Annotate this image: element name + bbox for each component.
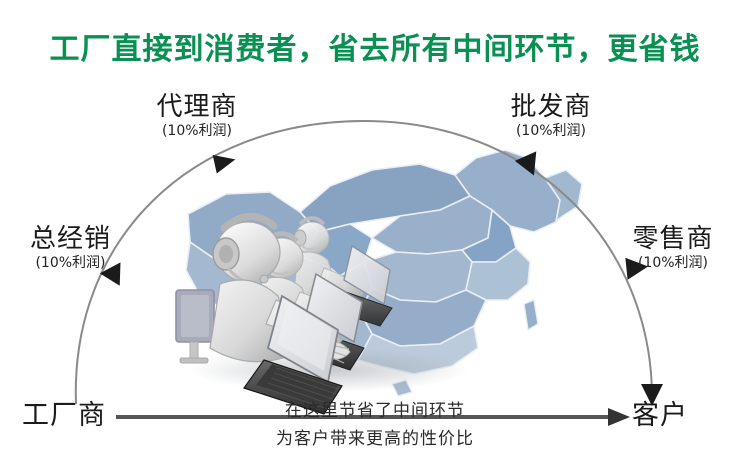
caption-value: 为客户带来更高的性价比 bbox=[155, 424, 595, 449]
node-wholesaler-label: 批发商 bbox=[486, 92, 616, 122]
node-agent-profit: (10%利润) bbox=[132, 122, 262, 141]
arrow-to-agent bbox=[211, 155, 236, 175]
monitor bbox=[176, 290, 214, 363]
node-retailer-label: 零售商 bbox=[608, 224, 738, 254]
node-agent: 代理商 (10%利润) bbox=[132, 92, 262, 141]
node-factory: 工厂商 bbox=[22, 400, 106, 432]
node-distributor: 总经销 (10%利润) bbox=[8, 224, 133, 273]
node-client: 客户 bbox=[632, 400, 688, 432]
node-wholesaler: 批发商 (10%利润) bbox=[486, 92, 616, 141]
node-distributor-profit: (10%利润) bbox=[8, 254, 133, 273]
node-distributor-label: 总经销 bbox=[8, 224, 133, 254]
node-retailer-profit: (10%利润) bbox=[608, 254, 738, 273]
caption-savings: 在这里节省了中间环节 bbox=[155, 396, 595, 421]
node-retailer: 零售商 (10%利润) bbox=[608, 224, 738, 273]
node-agent-label: 代理商 bbox=[132, 92, 262, 122]
infographic-root: 工厂直接到消费者，省去所有中间环节，更省钱 bbox=[0, 0, 750, 452]
node-wholesaler-profit: (10%利润) bbox=[486, 122, 616, 141]
